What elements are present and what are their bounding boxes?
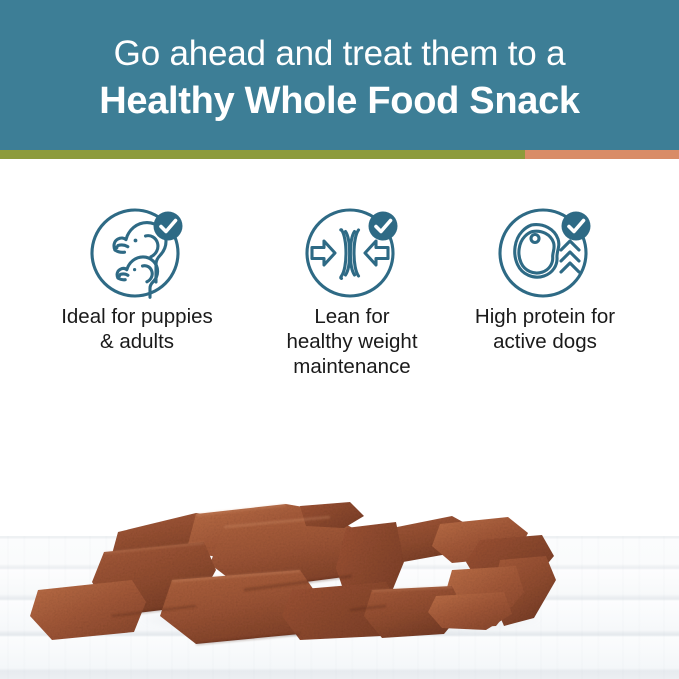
feature-caption-ideal-for-puppies: Ideal for puppies & adults	[22, 304, 252, 354]
feature-benefits-row: Ideal for puppies & adults	[0, 159, 679, 459]
feature-caption-line: & adults	[26, 329, 248, 354]
steak-with-chevrons-in-circle-icon	[452, 159, 638, 304]
header-banner: Go ahead and treat them to a Healthy Who…	[0, 0, 679, 150]
feature-item-healthy-weight: Lean for healthy weight maintenance	[252, 159, 452, 379]
slimming-arrows-in-circle-icon	[252, 159, 452, 304]
feature-item-ideal-for-puppies: Ideal for puppies & adults	[22, 159, 252, 354]
checkmark-badge-icon	[562, 211, 591, 240]
feature-caption-line: High protein for	[456, 304, 634, 329]
feature-caption-line: Ideal for puppies	[26, 304, 248, 329]
accent-divider-bar	[0, 150, 679, 159]
feature-caption-line: healthy weight	[256, 329, 448, 354]
feature-item-high-protein: High protein for active dogs	[452, 159, 638, 354]
accent-bar-green-segment	[0, 150, 525, 159]
two-dogs-in-circle-icon	[22, 159, 252, 304]
feature-caption-high-protein: High protein for active dogs	[452, 304, 638, 354]
jerky-strips-illustration	[0, 440, 679, 679]
banner-headline-line1: Go ahead and treat them to a	[114, 31, 566, 77]
feature-caption-line: maintenance	[256, 354, 448, 379]
feature-caption-line: Lean for	[256, 304, 448, 329]
banner-headline-line2: Healthy Whole Food Snack	[99, 77, 580, 125]
jerky-treat-pile-photo	[0, 440, 679, 679]
checkmark-badge-icon	[369, 211, 398, 240]
feature-caption-line: active dogs	[456, 329, 634, 354]
checkmark-badge-icon	[154, 211, 183, 240]
accent-bar-orange-segment	[525, 150, 679, 159]
feature-caption-healthy-weight: Lean for healthy weight maintenance	[252, 304, 452, 379]
